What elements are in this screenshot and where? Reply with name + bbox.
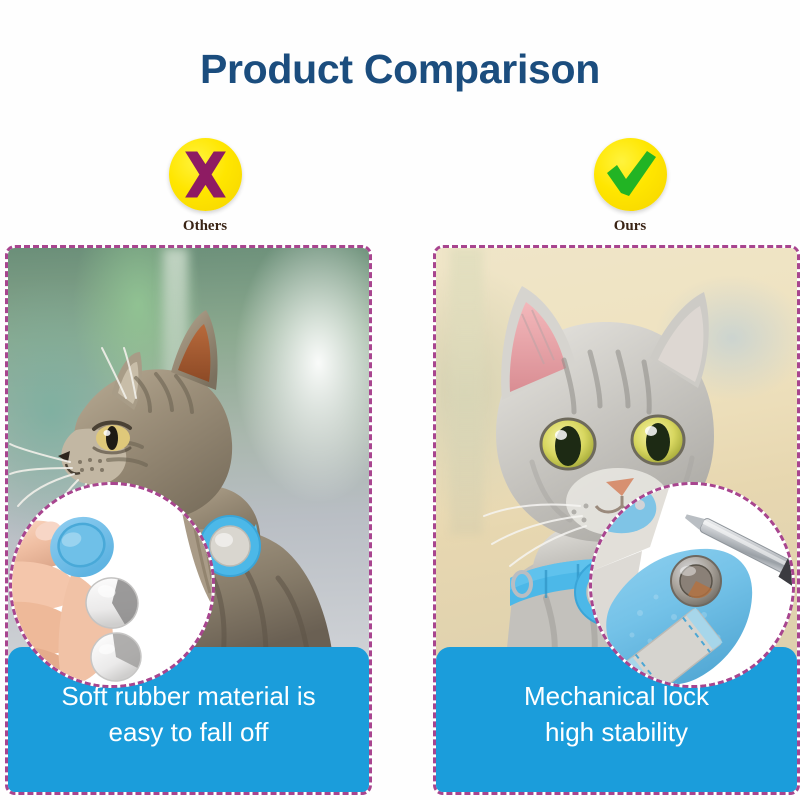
inset-hand-holding-rubber-holder <box>9 482 215 688</box>
badge-label-others: Others <box>145 218 265 235</box>
badge-label-ours: Ours <box>570 218 690 235</box>
product-comparison-infographic: Product Comparison Others Ours <box>0 0 800 800</box>
inset-screwdriver-tightening-rivet <box>589 482 795 688</box>
cross-icon <box>169 138 242 211</box>
caption-line-2: easy to fall off <box>61 715 315 750</box>
page-title: Product Comparison <box>0 46 800 93</box>
badge-group-others: Others <box>145 138 265 235</box>
caption-line-2: high stability <box>524 715 709 750</box>
rubber-holder-falling-illustration <box>12 485 212 685</box>
mechanical-lock-illustration <box>592 485 792 685</box>
caption-text-others: Soft rubber material is easy to fall off <box>61 679 315 749</box>
badge-group-ours: Ours <box>570 138 690 235</box>
check-icon <box>594 138 667 211</box>
caption-text-ours: Mechanical lock high stability <box>524 679 709 749</box>
